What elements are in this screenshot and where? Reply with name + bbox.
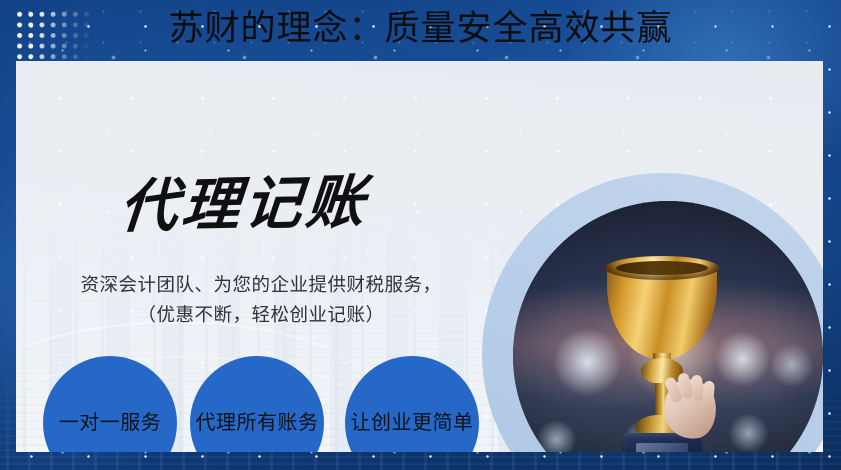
- slide-header: 苏财的理念：质量安全高效共赢: [0, 0, 841, 61]
- headline-text: 代理记账: [117, 166, 372, 243]
- trophy-nameplate: [636, 443, 688, 452]
- arm-shape: [513, 343, 548, 452]
- hero-photo-trophy: [513, 201, 823, 452]
- content-panel: 代理记账 资深会计团队、为您的企业提供财税服务，（优惠不断，轻松创业记账） 一对…: [16, 61, 823, 452]
- trophy-knot: [641, 358, 683, 384]
- feature-circle-1[interactable]: 一对一服务: [43, 356, 177, 452]
- feature-circle-3[interactable]: 让创业更简单: [345, 356, 479, 452]
- feature-circle-2-label: 代理所有账务: [196, 411, 319, 435]
- hero-photo-background: [513, 201, 823, 452]
- subtitle-text: 资深会计团队、为您的企业提供财税服务，（优惠不断，轻松创业记账）: [71, 270, 451, 330]
- slide-canvas: 苏财的理念：质量安全高效共赢: [0, 0, 841, 470]
- feature-circle-1-label: 一对一服务: [59, 411, 162, 435]
- feature-circle-3-label: 让创业更简单: [351, 411, 474, 435]
- finger-4: [702, 381, 715, 408]
- trophy-rim-inner: [616, 261, 708, 275]
- page-title: 苏财的理念：质量安全高效共赢: [0, 4, 841, 54]
- feature-circle-2[interactable]: 代理所有账务: [190, 356, 324, 452]
